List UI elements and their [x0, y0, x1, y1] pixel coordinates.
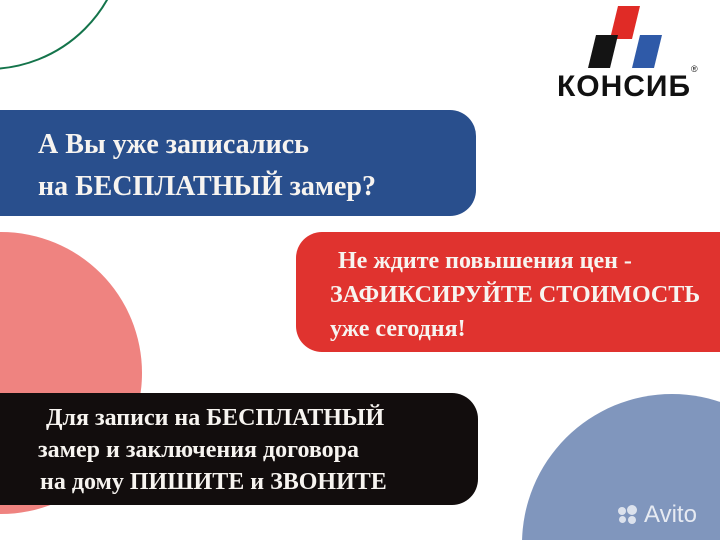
message-red-line-2: ЗАФИКСИРУЙТЕ СТОИМОСТЬ	[330, 278, 720, 312]
advertisement-banner: КОНСИБ ® А Вы уже записались на БЕСПЛАТН…	[0, 0, 720, 540]
message-red-line-1: Не ждите повышения цен -	[330, 244, 720, 278]
cta-black-line-3: на дому ПИШИТЕ и ЗВОНИТЕ	[38, 466, 478, 498]
headline-blue-line-1: А Вы уже записались	[38, 124, 476, 166]
message-red-line-3: уже сегодня!	[330, 312, 720, 346]
avito-watermark: Avito	[618, 500, 697, 530]
registered-trademark-mark: ®	[691, 64, 698, 74]
cta-black-line-2: замер и заключения договора	[38, 434, 478, 466]
cta-black-line-1: Для записи на БЕСПЛАТНЫЙ	[38, 402, 478, 434]
headline-blue-line-2: на БЕСПЛАТНЫЙ замер?	[38, 166, 476, 208]
avito-watermark-label: Avito	[644, 503, 697, 527]
cta-block-black: Для записи на БЕСПЛАТНЫЙ замер и заключе…	[0, 393, 478, 505]
konsib-logo-mark-icon	[588, 6, 664, 68]
green-circle-outline-decoration	[0, 0, 126, 70]
avito-dots-icon	[618, 505, 640, 525]
message-block-red: Не ждите повышения цен - ЗАФИКСИРУЙТЕ СТ…	[296, 232, 720, 352]
headline-block-blue: А Вы уже записались на БЕСПЛАТНЫЙ замер?	[0, 110, 476, 216]
brand-wordmark: КОНСИБ	[540, 70, 708, 104]
brand-logo: КОНСИБ ®	[540, 6, 708, 106]
